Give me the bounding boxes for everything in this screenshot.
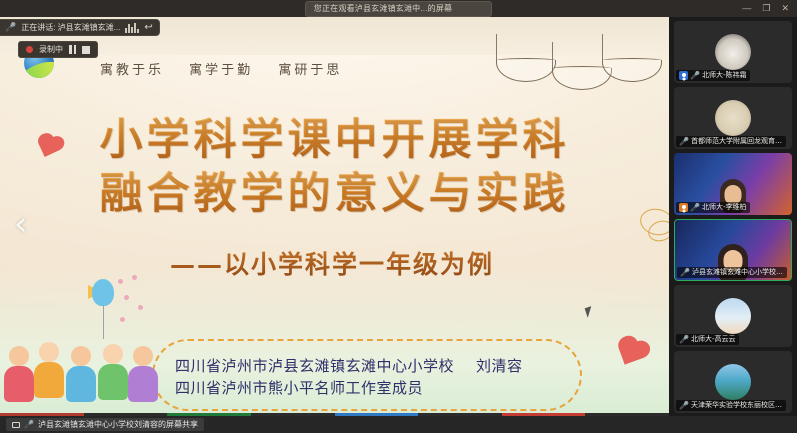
slide-title-line-1: 小学科学课中开展学科 <box>0 113 669 167</box>
participant-name: 首都师范大学附属回龙观育新... <box>691 137 783 146</box>
slide-motto: 寓教于乐 寓学于勤 寓研于思 <box>100 59 360 78</box>
balloon-icon <box>92 279 114 306</box>
slide-title-line-2: 融合教学的意义与实践 <box>0 167 669 221</box>
recording-label: 录制中 <box>39 44 63 55</box>
participant-namebar: 🎤 天津荣华实验学校东丽校区 ... <box>676 400 786 411</box>
active-speaker-label: 正在讲话: 泸县玄滩镇玄滩... <box>21 22 120 33</box>
mic-muted-icon: 🎤 <box>679 336 689 344</box>
active-speaker-toolbar[interactable]: 🎤 正在讲话: 泸县玄滩镇玄滩... ↩ <box>0 19 160 36</box>
mic-on-icon: 🎤 <box>680 269 690 277</box>
close-button[interactable]: ✕ <box>781 0 789 17</box>
participant-namebar: 🎤 北师大-李维柏 <box>676 202 750 213</box>
mic-muted-icon[interactable]: 🎤 <box>5 22 16 33</box>
zoom-meeting-window: 您正在观看泸县玄滩镇玄滩中...的屏幕 hamburger-menu-icon … <box>0 0 797 433</box>
participant-namebar: 🎤 首都师范大学附属回龙观育新... <box>676 136 786 147</box>
participant-tile[interactable]: 🎤 天津荣华实验学校东丽校区 ... <box>674 351 792 413</box>
viewing-screen-banner[interactable]: 您正在观看泸县玄滩镇玄滩中...的屏幕 hamburger-menu-icon <box>305 1 492 17</box>
credit-school: 四川省泸州市泸县玄滩镇玄滩中心小学校 <box>175 357 454 375</box>
mic-muted-icon: 🎤 <box>679 402 689 410</box>
motto-item-1: 寓教于乐 <box>100 63 164 78</box>
motto-item-2: 寓学于勤 <box>189 63 253 78</box>
mouse-cursor <box>585 306 595 318</box>
heart-icon <box>619 341 644 364</box>
presentation-slide: 寓教于乐 寓学于勤 寓研于思 小学科学课中开展学科 融合教学的意义与实践 ——以… <box>0 17 669 416</box>
screen-share-status[interactable]: 🎤 泸县玄滩镇玄滩中心小学校刘清容的屏幕共享 <box>6 418 204 431</box>
pause-icon[interactable] <box>69 45 76 54</box>
credit-row-2: 四川省泸州市熊小平名师工作室成员 <box>175 377 595 399</box>
avatar <box>715 298 751 334</box>
avatar <box>715 364 751 400</box>
credit-author: 刘清容 <box>476 357 523 375</box>
motto-item-3: 寓研于思 <box>278 63 342 78</box>
host-badge-icon <box>679 203 688 212</box>
bottom-status-bar: 🎤 泸县玄滩镇玄滩中心小学校刘清容的屏幕共享 <box>0 416 797 433</box>
slide-title: 小学科学课中开展学科 融合教学的意义与实践 <box>0 113 669 221</box>
participant-name: 北师大-高云云 <box>691 335 736 344</box>
participant-tile[interactable]: 🎤 首都师范大学附属回龙观育新... <box>674 87 792 149</box>
mic-on-icon: 🎤 <box>690 204 700 212</box>
mic-muted-icon: 🎤 <box>679 138 689 146</box>
previous-slide-arrow[interactable]: ‹ <box>14 207 28 241</box>
audio-level-icon <box>125 23 139 33</box>
stop-icon[interactable] <box>82 46 90 54</box>
credit-row-1: 四川省泸州市泸县玄滩镇玄滩中心小学校刘清容 <box>175 355 595 377</box>
participant-tile[interactable]: 🎤 北师大-陈祎霜 <box>674 21 792 83</box>
children-illustration <box>0 312 168 402</box>
screen-share-label: 泸县玄滩镇玄滩中心小学校刘清容的屏幕共享 <box>38 419 198 430</box>
participant-name: 天津荣华实验学校东丽校区 ... <box>691 401 783 410</box>
recording-toolbar[interactable]: 录制中 <box>18 41 98 58</box>
title-bar: 您正在观看泸县玄滩镇玄滩中...的屏幕 hamburger-menu-icon … <box>0 0 797 17</box>
reply-arrow-icon[interactable]: ↩ <box>144 22 152 33</box>
recording-dot-icon <box>26 46 33 53</box>
participant-tile[interactable]: 🎤 北师大-高云云 <box>674 285 792 347</box>
lamp-decoration-group <box>490 34 660 114</box>
avatar <box>715 34 751 70</box>
participant-name: 北师大-陈祎霜 <box>702 71 747 80</box>
minimize-button[interactable]: — <box>742 0 751 17</box>
shared-screen-stage[interactable]: 寓教于乐 寓学于勤 寓研于思 小学科学课中开展学科 融合教学的意义与实践 ——以… <box>0 17 669 416</box>
participant-namebar: 🎤 泸县玄滩镇玄滩中心小学校刘... <box>677 267 787 278</box>
mic-muted-icon: 🎤 <box>690 72 700 80</box>
viewing-screen-text: 您正在观看泸县玄滩镇玄滩中...的屏幕 <box>314 3 452 14</box>
participant-tile-active-speaker[interactable]: 🎤 泸县玄滩镇玄滩中心小学校刘... <box>674 219 792 281</box>
participant-name: 泸县玄滩镇玄滩中心小学校刘... <box>692 268 784 277</box>
participant-namebar: 🎤 北师大-高云云 <box>676 334 739 345</box>
maximize-button[interactable]: ❐ <box>762 0 770 17</box>
slide-subtitle: ——以小学科学一年级为例 <box>170 245 494 281</box>
credit-text: 四川省泸州市泸县玄滩镇玄滩中心小学校刘清容 四川省泸州市熊小平名师工作室成员 <box>175 355 595 399</box>
participant-tile[interactable]: 🎤 北师大-李维柏 <box>674 153 792 215</box>
participant-name: 北师大-李维柏 <box>702 203 747 212</box>
participant-namebar: 🎤 北师大-陈祎霜 <box>676 70 750 81</box>
participants-rail[interactable]: 🎤 北师大-陈祎霜 🎤 首都师范大学附属回龙观育新... 🎤 北师大-李维柏 <box>669 17 797 416</box>
screen-share-icon <box>12 422 20 428</box>
hamburger-menu-icon[interactable]: hamburger-menu-icon <box>464 3 483 14</box>
mic-on-icon: 🎤 <box>24 420 34 429</box>
host-badge-icon <box>679 71 688 80</box>
window-controls: — ❐ ✕ <box>742 0 793 17</box>
avatar <box>715 100 751 136</box>
